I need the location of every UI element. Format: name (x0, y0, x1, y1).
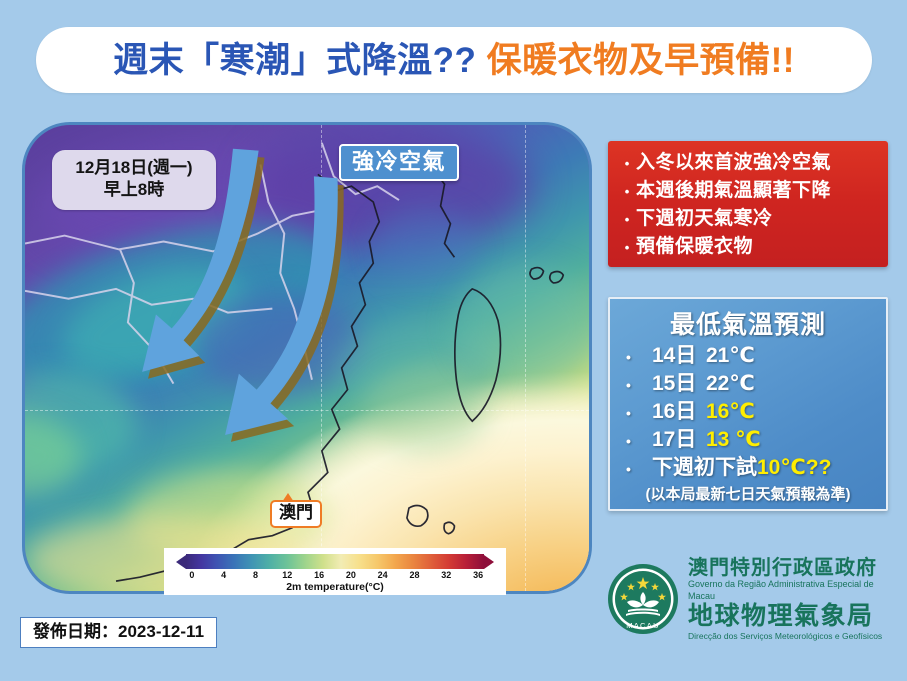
colorbar-tick: 0 (189, 570, 194, 580)
forecast-temperature: 21℃ (706, 342, 755, 370)
map-date-line1: 12月18日(週一) (58, 157, 210, 179)
colorbar-scale (186, 554, 484, 569)
highlight-item-label: 入冬以來首波強冷空氣 (636, 149, 831, 177)
forecast-outlook-row: •下週初下試10℃?? (610, 454, 886, 482)
dept-name-zh: 地球物理氣象局 (688, 602, 894, 631)
publish-date: 發佈日期：2023-12-11 (20, 617, 217, 648)
colorbar-tick: 16 (314, 570, 324, 580)
map-date-badge: 12月18日(週一) 早上8時 (52, 150, 216, 210)
colorbar-tick: 24 (378, 570, 388, 580)
colorbar-gradient (176, 554, 494, 569)
emblem-text: MACAU (626, 621, 660, 630)
highlight-item-label: 本週後期氣溫顯著下降 (636, 177, 831, 205)
macau-location-label: 澳門 (270, 500, 322, 528)
forecast-temperature: 16℃ (706, 398, 755, 426)
highlights-box: •入冬以來首波強冷空氣•本週後期氣溫顯著下降•下週初天氣寒冷•預備保暖衣物 (608, 141, 888, 267)
colorbar-tick: 8 (253, 570, 258, 580)
agency-logo: MACAU 澳門特別行政區政府 Governo da Região Admini… (606, 558, 894, 640)
bullet-icon: • (618, 182, 636, 201)
forecast-day: 15日 (652, 370, 706, 398)
title-part-primary: 週末「寒潮」式降溫?? (113, 41, 476, 80)
colorbar-tick: 20 (346, 570, 356, 580)
forecast-row: •16日16℃ (610, 398, 886, 426)
highlight-item: •預備保暖衣物 (608, 233, 888, 261)
macau-emblem-icon: MACAU (606, 562, 680, 636)
highlights-list: •入冬以來首波強冷空氣•本週後期氣溫顯著下降•下週初天氣寒冷•預備保暖衣物 (608, 149, 888, 261)
forecast-box: 最低氣溫預測 •14日21℃•15日22℃•16日16℃•17日13 ℃•下週初… (608, 297, 888, 511)
bullet-icon: • (626, 460, 652, 479)
highlight-item: •入冬以來首波強冷空氣 (608, 149, 888, 177)
colorbar-tick: 4 (221, 570, 226, 580)
colorbar-tick: 36 (473, 570, 483, 580)
bullet-icon: • (626, 348, 652, 367)
colorbar-max-arrow (484, 555, 494, 569)
forecast-list: •14日21℃•15日22℃•16日16℃•17日13 ℃•下週初下試10℃?? (610, 342, 886, 482)
dept-name-pt: Direcção dos Serviços Meteorológicos e G… (688, 631, 894, 641)
colorbar-min-arrow (176, 555, 186, 569)
bullet-icon: • (618, 154, 636, 173)
agency-name-block: 澳門特別行政區政府 Governo da Região Administrati… (688, 557, 894, 640)
colorbar-caption: 2m temperature(°C) (164, 581, 506, 593)
colorbar-tick: 32 (441, 570, 451, 580)
forecast-temperature: 13 ℃ (706, 426, 761, 454)
bullet-icon: • (618, 238, 636, 257)
forecast-note: (以本局最新七日天氣預報為準) (610, 483, 886, 504)
highlight-item: •本週後期氣溫顯著下降 (608, 177, 888, 205)
forecast-row: •14日21℃ (610, 342, 886, 370)
gov-name-pt: Governo da Região Administrativa Especia… (688, 579, 894, 602)
bullet-icon: • (626, 432, 652, 451)
forecast-day: 17日 (652, 426, 706, 454)
bullet-icon: • (618, 210, 636, 229)
bullet-icon: • (626, 404, 652, 423)
forecast-row: •17日13 ℃ (610, 426, 886, 454)
highlight-item: •下週初天氣寒冷 (608, 205, 888, 233)
page-title: 週末「寒潮」式降溫?? 保暖衣物及早預備!! (113, 43, 795, 78)
colorbar-tick: 12 (282, 570, 292, 580)
forecast-heading: 最低氣溫預測 (610, 305, 886, 341)
forecast-day: 14日 (652, 342, 706, 370)
map-date-line2: 早上8時 (58, 179, 210, 201)
colorbar-panel: 04812162024283236 2m temperature(°C) (164, 548, 506, 595)
infographic-root: 週末「寒潮」式降溫?? 保暖衣物及早預備!! (0, 0, 907, 681)
forecast-row: •15日22℃ (610, 370, 886, 398)
forecast-day: 16日 (652, 398, 706, 426)
bullet-icon: • (626, 376, 652, 395)
cold-air-label: 強冷空氣 (339, 144, 459, 181)
forecast-outlook-label: 下週初下試 (652, 454, 757, 482)
forecast-temperature: 22℃ (706, 370, 755, 398)
highlight-item-label: 預備保暖衣物 (636, 233, 753, 261)
gov-name-zh: 澳門特別行政區政府 (688, 557, 894, 579)
highlight-item-label: 下週初天氣寒冷 (636, 205, 773, 233)
headline-banner: 週末「寒潮」式降溫?? 保暖衣物及早預備!! (36, 27, 872, 93)
forecast-outlook-value: 10℃?? (757, 454, 831, 482)
title-part-accent: 保暖衣物及早預備!! (476, 41, 795, 80)
colorbar-tick: 28 (409, 570, 419, 580)
